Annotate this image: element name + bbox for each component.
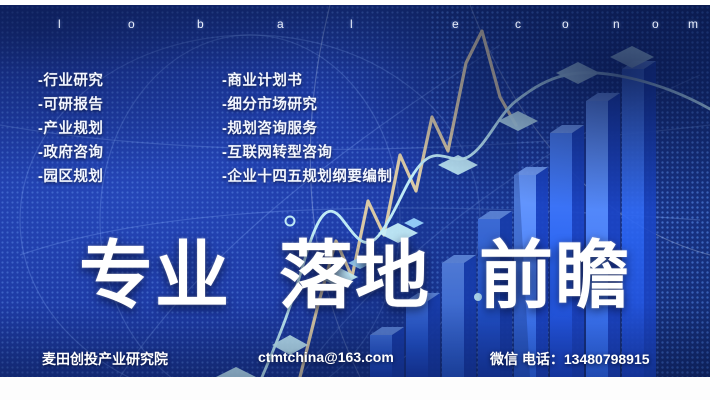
- service-item: -园区规划: [38, 165, 103, 189]
- top-letter: l: [58, 17, 61, 31]
- service-item: -可研报告: [38, 93, 103, 117]
- service-list-right: -商业计划书 -细分市场研究 -规划咨询服务 -互联网转型咨询 -企业十四五规划…: [222, 69, 392, 189]
- globe-arc-lines: [0, 5, 710, 377]
- service-item: -商业计划书: [222, 69, 392, 93]
- top-letter: o: [562, 17, 569, 31]
- top-letter: o: [652, 17, 659, 31]
- diamond-marker-small-group: [348, 218, 424, 269]
- service-item: -规划咨询服务: [222, 117, 392, 141]
- service-item: -互联网转型咨询: [222, 141, 392, 165]
- footer-contact-row: 麦田创投产业研究院 ctmtchina@163.com 微信 电话：134807…: [0, 349, 710, 371]
- banner-background: l o b a l e c o n o m -行业研究 -可研报告 -产业规划 …: [0, 5, 710, 377]
- service-list-left: -行业研究 -可研报告 -产业规划 -政府咨询 -园区规划: [38, 69, 103, 189]
- service-item: -企业十四五规划纲要编制: [222, 165, 392, 189]
- vignette-overlay: [0, 5, 710, 377]
- headline: 专业 落地 前瞻: [0, 239, 710, 313]
- headline-word: 落地: [279, 239, 431, 313]
- halftone-dot-texture: [0, 5, 710, 377]
- service-item: -行业研究: [38, 69, 103, 93]
- top-letter: c: [515, 17, 521, 31]
- growth-chart-graphic: [0, 5, 710, 377]
- service-item: -政府咨询: [38, 141, 103, 165]
- organization-name: 麦田创投产业研究院: [42, 349, 168, 369]
- top-letter: n: [613, 17, 620, 31]
- contact-phone: 微信 电话：13480798915: [490, 349, 650, 369]
- node-dot-2: [474, 293, 482, 301]
- email-address: ctmtchina@163.com: [258, 349, 394, 365]
- top-letter: m: [688, 17, 698, 31]
- headline-word: 专业: [79, 239, 231, 313]
- service-item: -产业规划: [38, 117, 103, 141]
- top-letter-row: l o b a l e c o n o m: [0, 13, 710, 35]
- bar-group: [370, 61, 656, 377]
- top-letter: a: [277, 17, 284, 31]
- node-dot: [286, 217, 295, 226]
- service-item: -细分市场研究: [222, 93, 392, 117]
- top-letter: b: [197, 17, 204, 31]
- top-letter: e: [452, 17, 459, 31]
- poster-image: l o b a l e c o n o m -行业研究 -可研报告 -产业规划 …: [0, 0, 710, 400]
- halftone-dot-texture-right: [430, 5, 710, 377]
- top-letter: o: [128, 17, 135, 31]
- bottom-white-strip: [0, 377, 710, 400]
- top-letter: l: [350, 17, 353, 31]
- headline-word: 前瞻: [479, 239, 631, 313]
